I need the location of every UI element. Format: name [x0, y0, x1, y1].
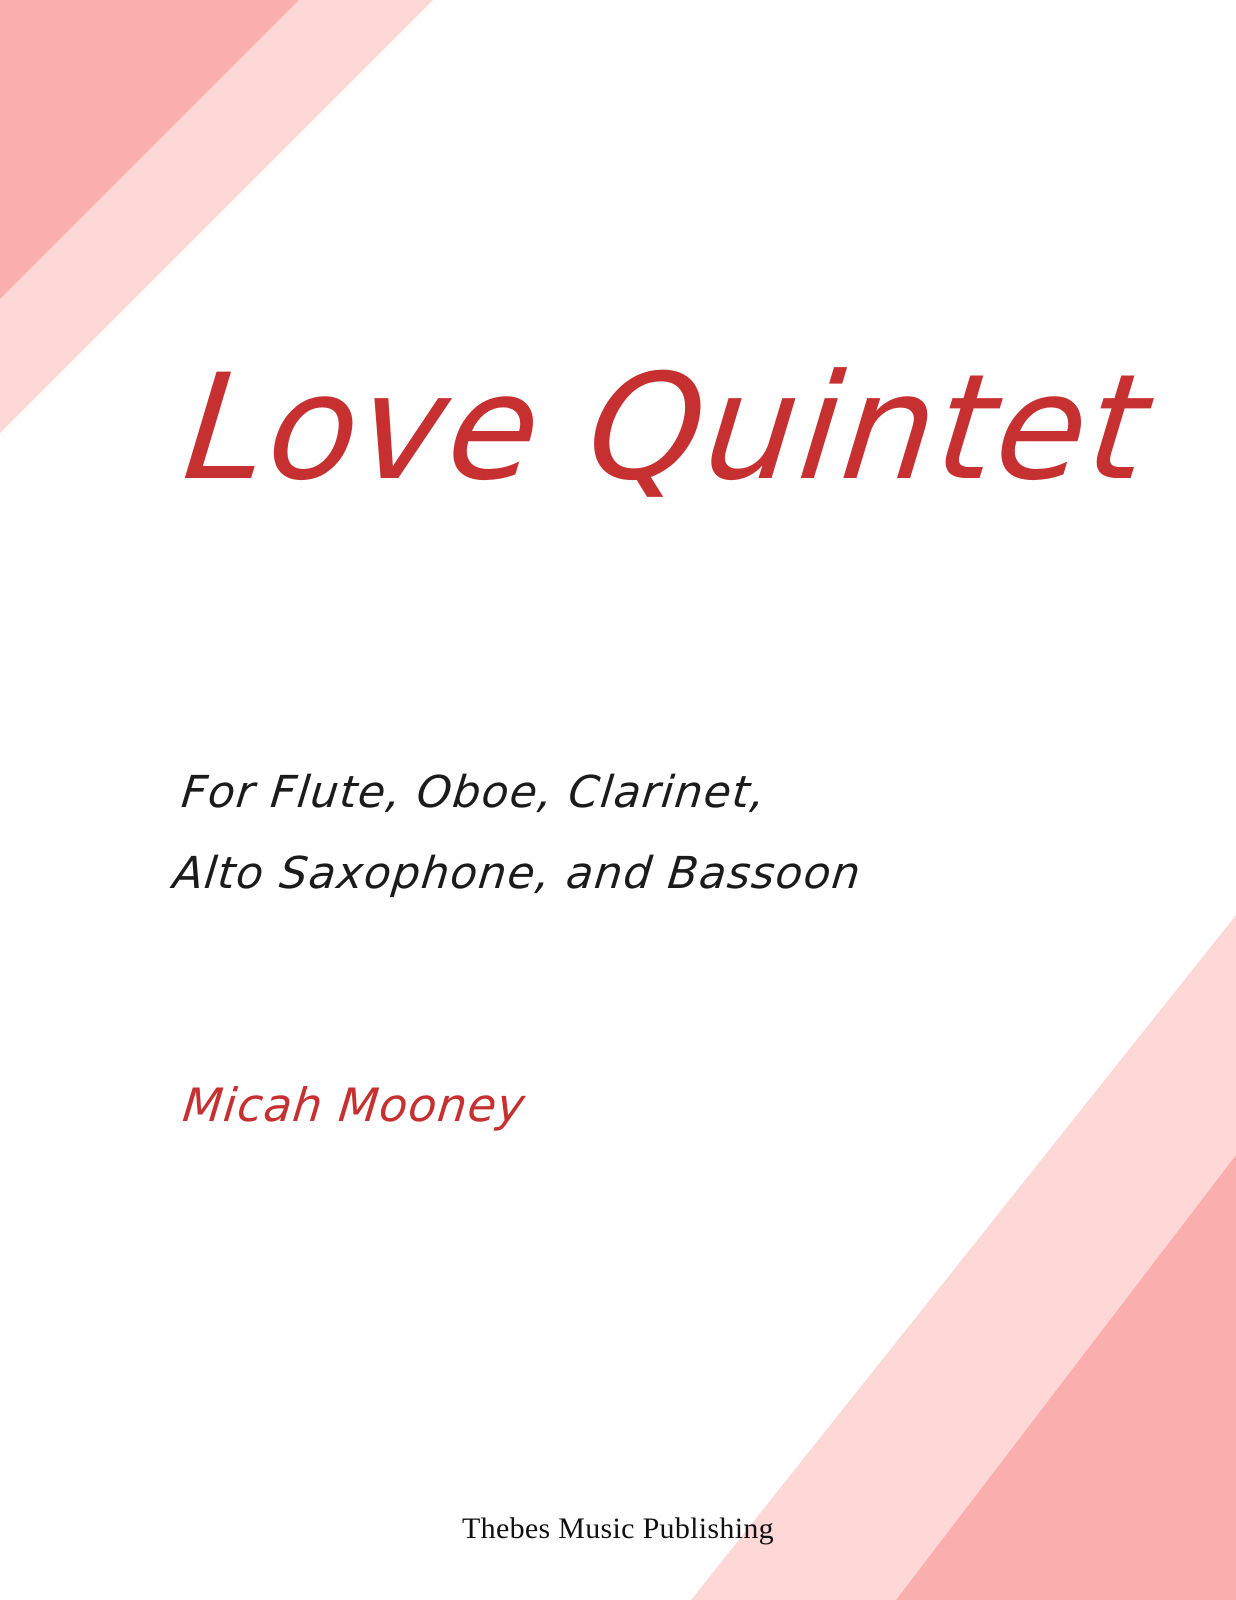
- instrumentation-subtitle: For Flute, Oboe, Clarinet, Alto Saxophon…: [169, 752, 1006, 915]
- subtitle-line-2: Alto Saxophone, and Bassoon: [169, 833, 998, 914]
- subtitle-line-1: For Flute, Oboe, Clarinet,: [177, 752, 1006, 833]
- bottom-right-bands-svg: [476, 840, 1236, 1600]
- work-title: Love Quintet: [178, 352, 1094, 505]
- composer-name: Micah Mooney: [180, 1078, 528, 1133]
- bottom-right-corner-decoration: [476, 840, 1236, 1600]
- band-light-bottom-right: [691, 915, 1236, 1600]
- publisher-name: Thebes Music Publishing: [0, 1512, 1236, 1546]
- cover-page: Love Quintet For Flute, Oboe, Clarinet, …: [0, 0, 1236, 1600]
- band-dark-top-left: [0, 0, 299, 299]
- top-left-bands-svg: [0, 0, 640, 640]
- top-left-corner-decoration: [0, 0, 640, 640]
